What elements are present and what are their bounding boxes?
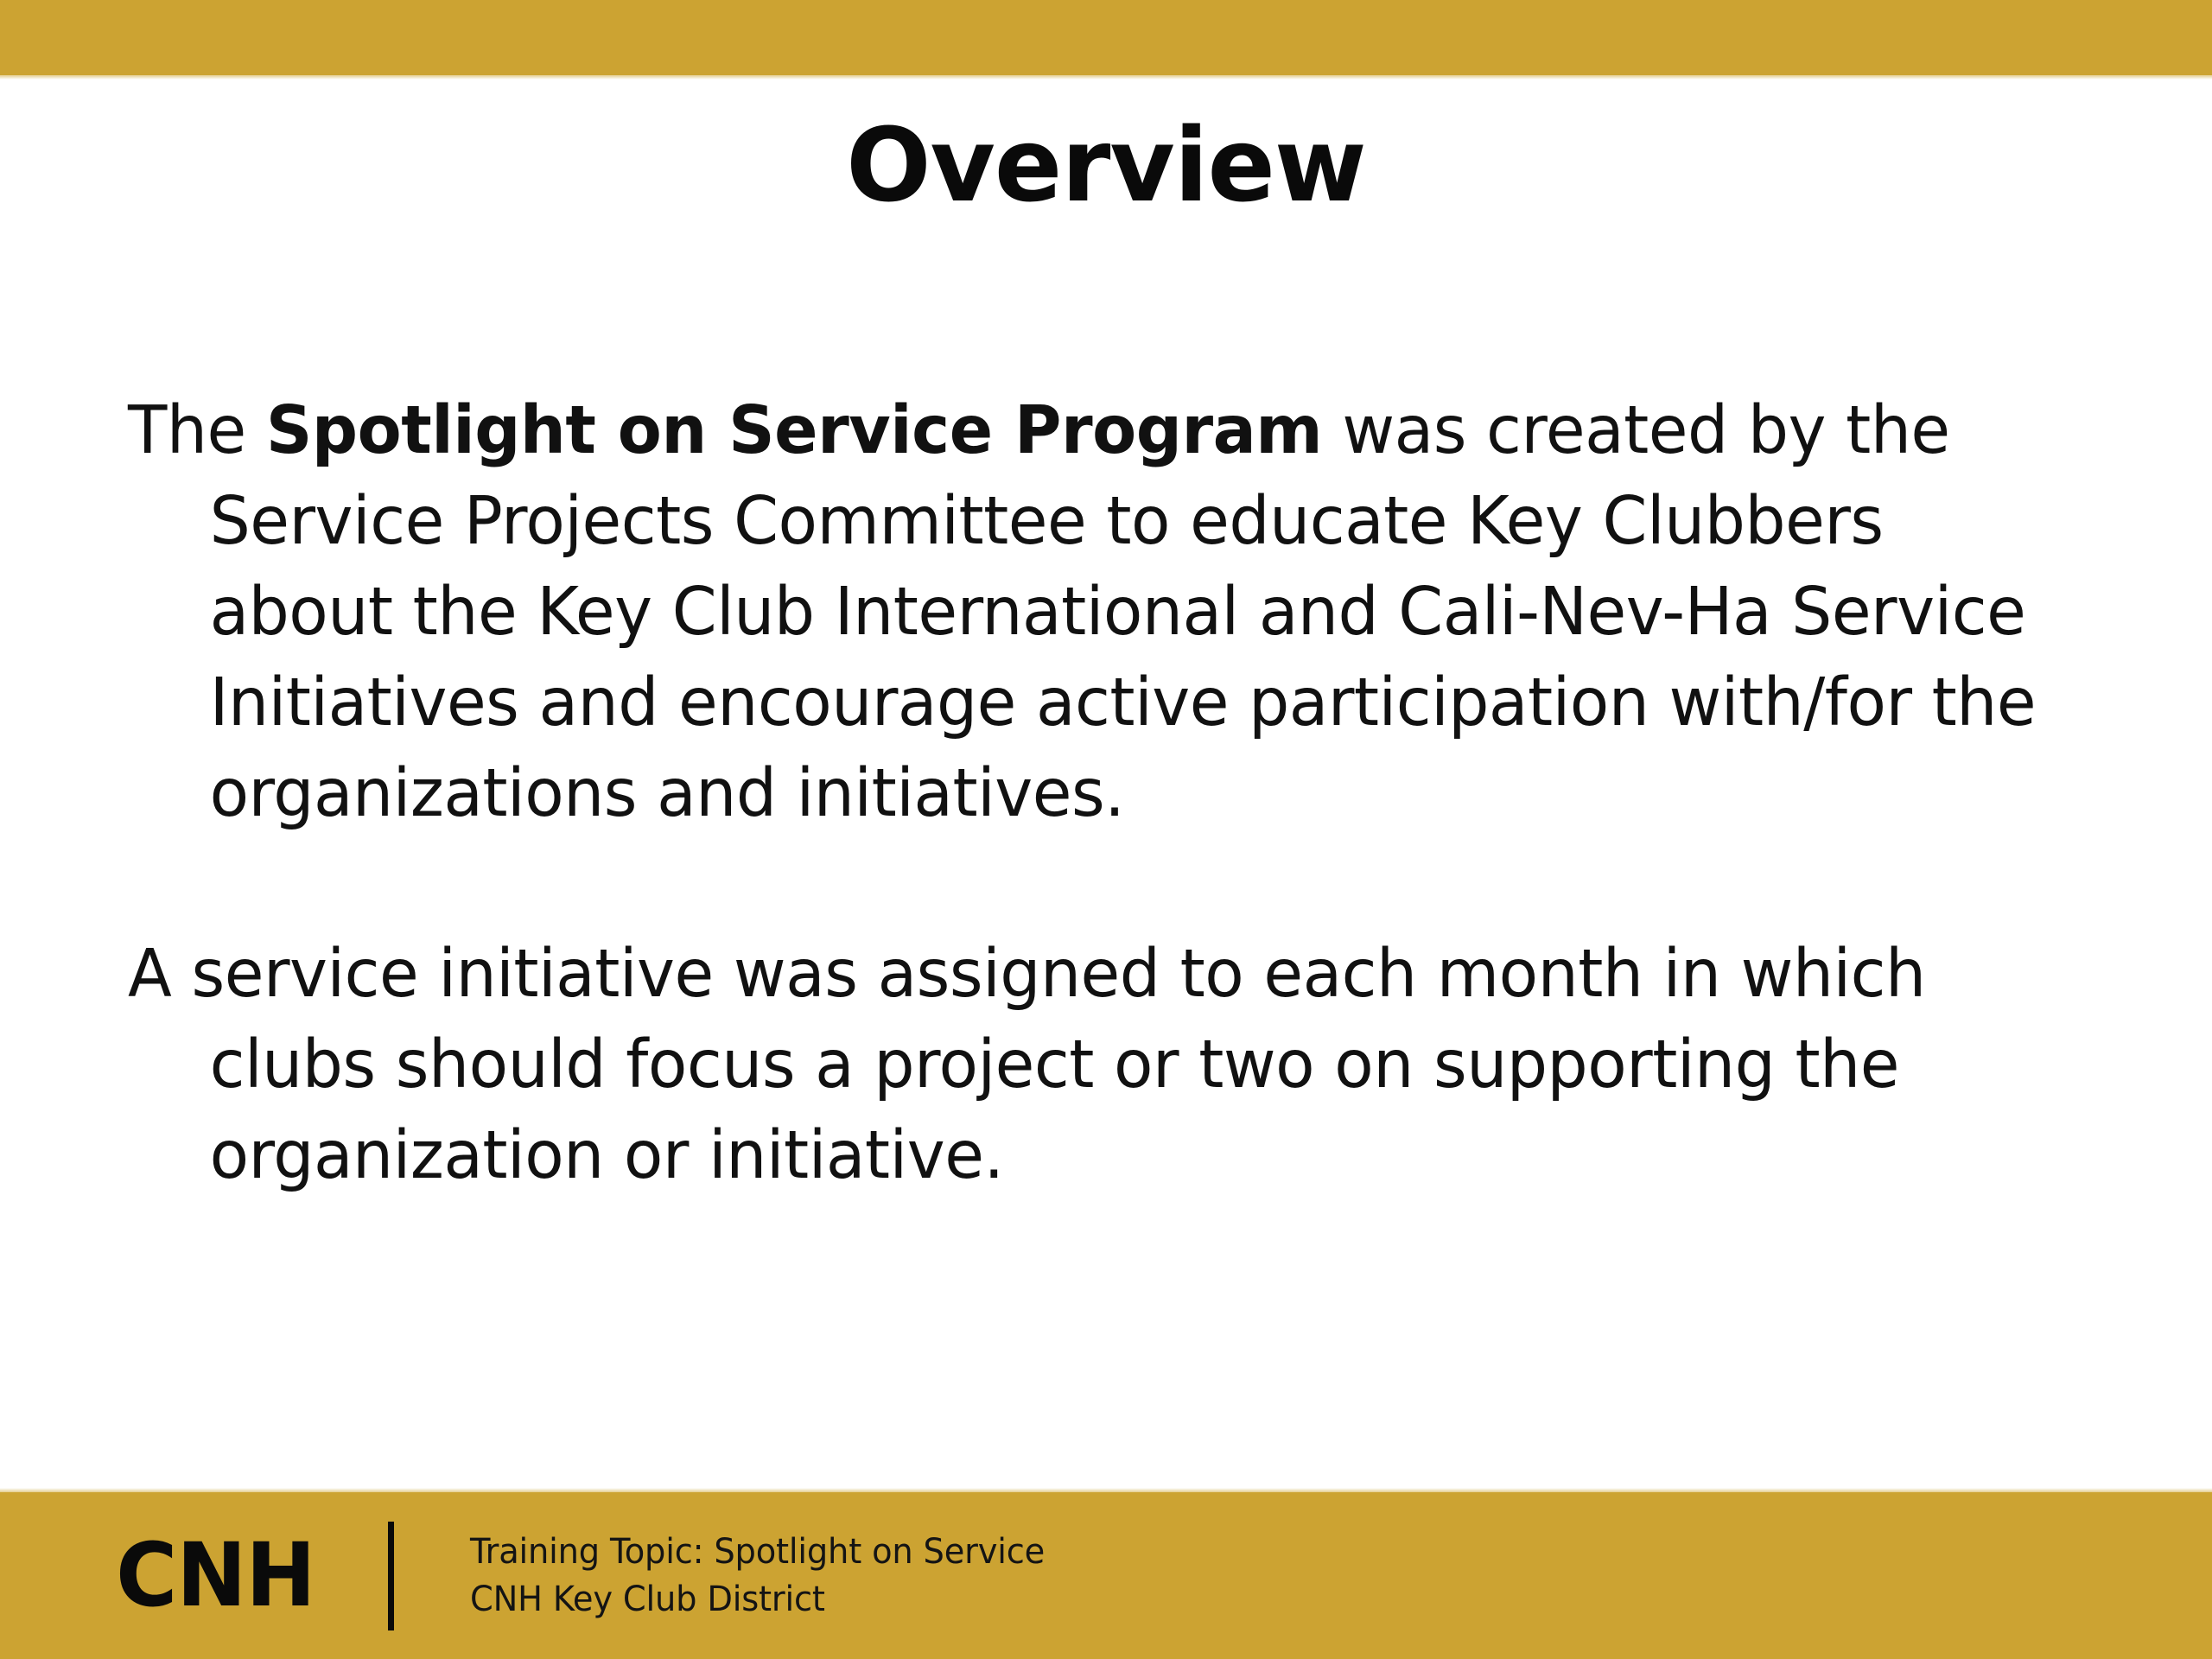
footer-text: Training Topic: Spotlight on Service CNH… (470, 1529, 1045, 1624)
footer-line-1: Training Topic: Spotlight on Service (470, 1529, 1045, 1576)
slide: Overview The Spotlight on Service Progra… (0, 0, 2212, 1659)
paragraph-1-lead: The (128, 392, 266, 469)
body-paragraph-2: A service initiative was assigned to eac… (128, 929, 2046, 1201)
slide-body: The Spotlight on Service Program was cre… (128, 385, 2115, 1201)
body-paragraph-1: The Spotlight on Service Program was cre… (128, 385, 2046, 839)
paragraph-1-emphasis: Spotlight on Service Program (266, 392, 1322, 469)
paragraph-spacer (128, 839, 2115, 929)
top-accent-bar (0, 0, 2212, 75)
footer-divider (388, 1522, 394, 1630)
slide-footer: CNH Training Topic: Spotlight on Service… (0, 1492, 2212, 1659)
page-title: Overview (22, 111, 2190, 220)
cnh-logo: CNH (116, 1532, 315, 1620)
footer-line-2: CNH Key Club District (470, 1576, 1045, 1624)
